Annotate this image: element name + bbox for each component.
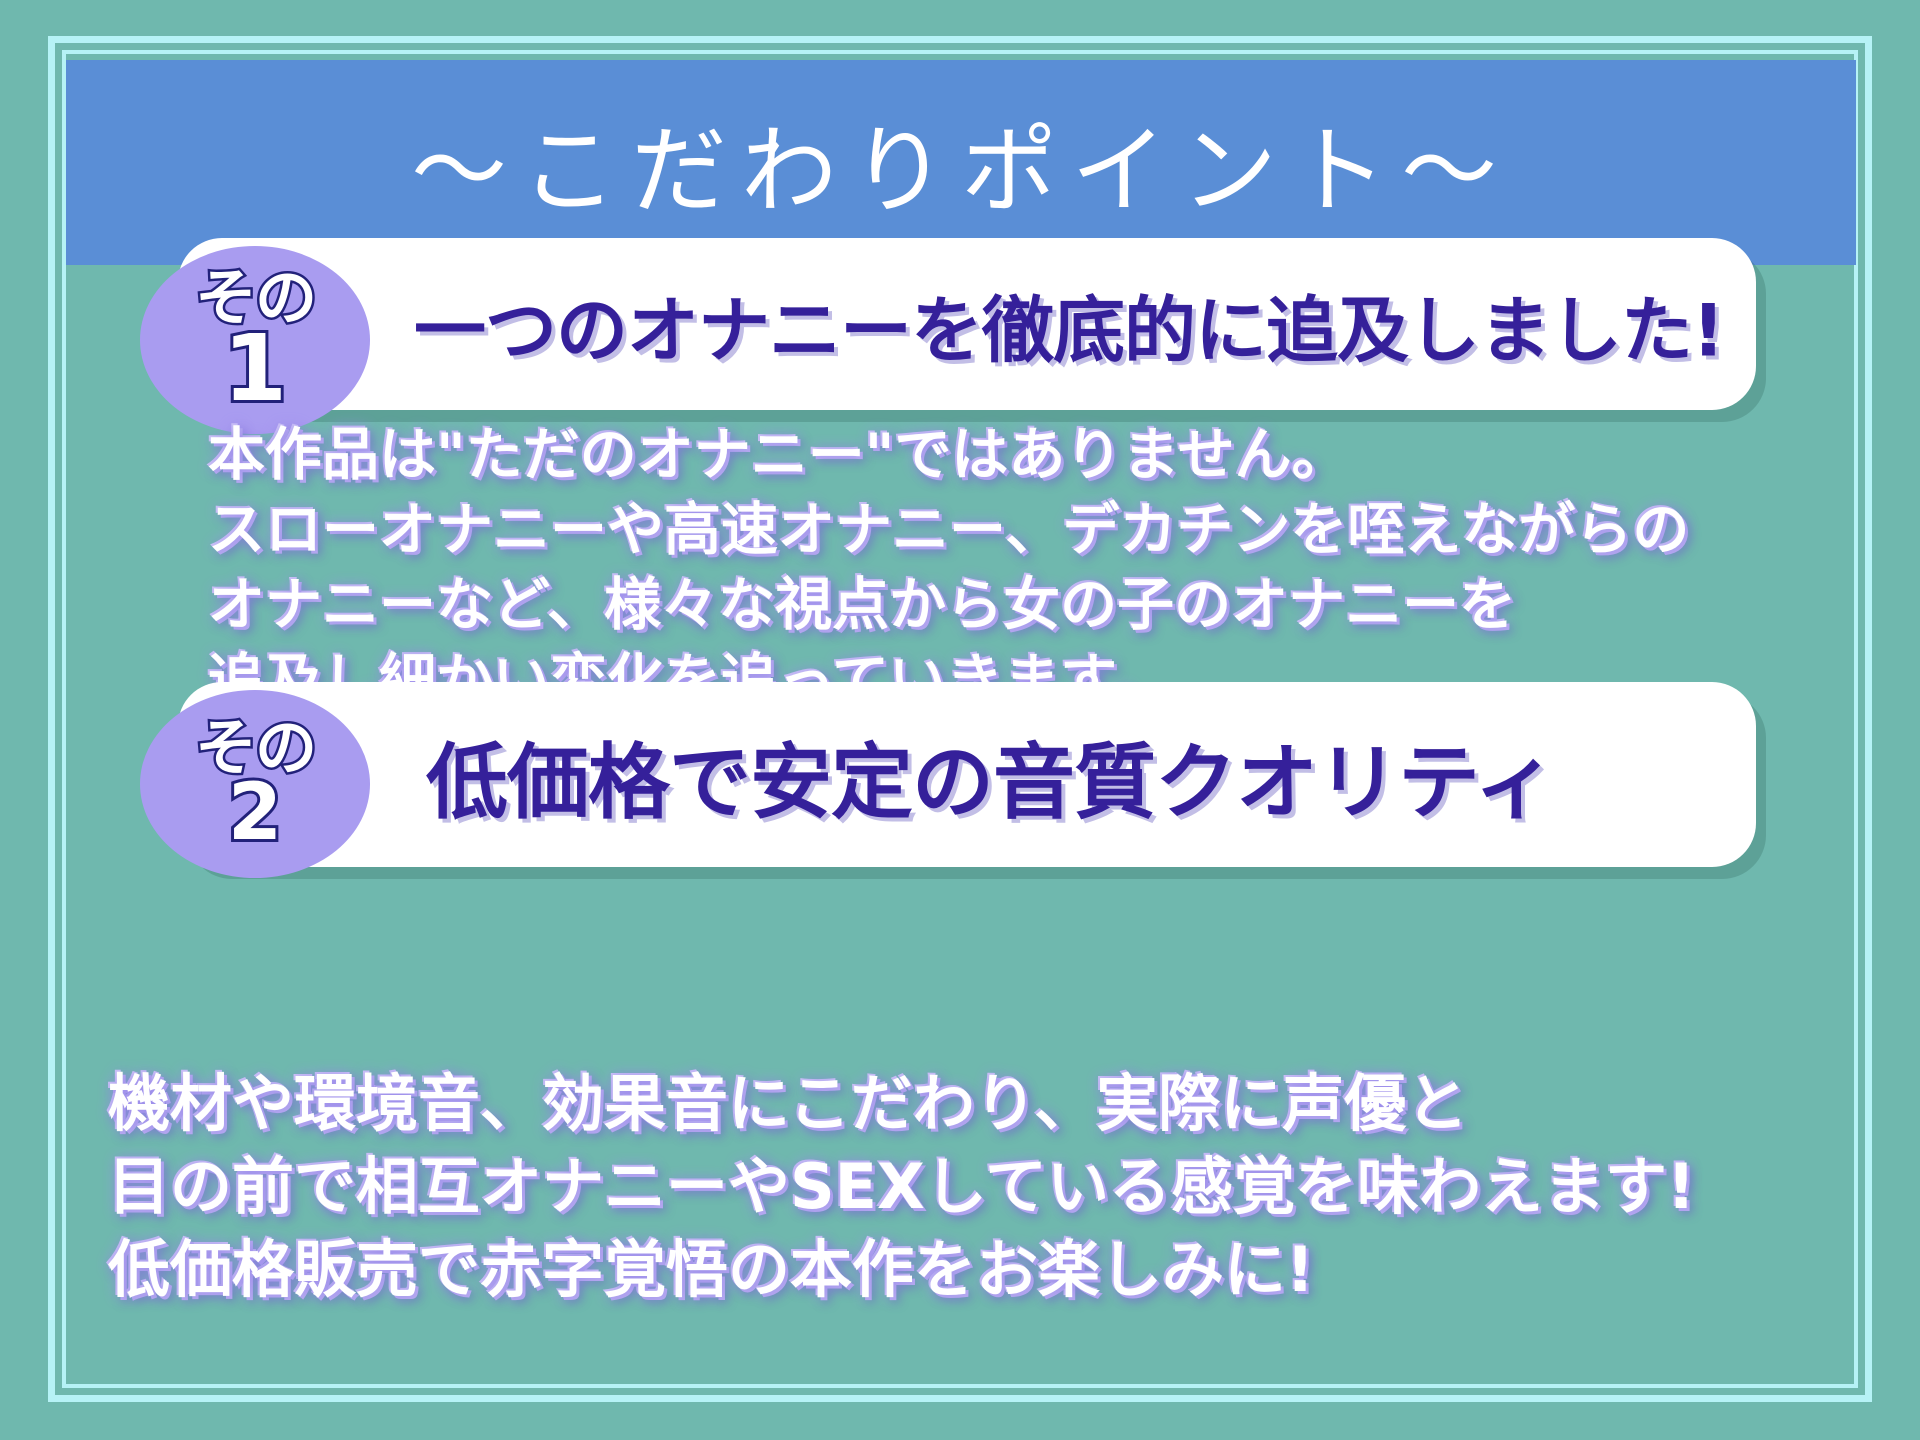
point-1-body: 本作品は"ただのオナニー"ではありません。 スローオナニーや高速オナニー、デカチ… [208, 418, 1689, 719]
body-line: 低価格販売で赤字覚悟の本作をお楽しみに! [108, 1228, 1695, 1311]
point-card-2: 低価格で安定の音質クオリティ [178, 682, 1756, 867]
body-line: 機材や環境音、効果音にこだわり、実際に声優と [108, 1062, 1695, 1145]
point-2-heading: 低価格で安定の音質クオリティ [426, 715, 1555, 834]
page-title: ～こだわりポイント～ [411, 93, 1511, 232]
point-2-body: 機材や環境音、効果音にこだわり、実際に声優と 目の前で相互オナニーやSEXしてい… [108, 1062, 1695, 1311]
point-1-heading: 一つのオナニーを徹底的に追及しました! [414, 272, 1724, 377]
body-line: 目の前で相互オナニーやSEXしている感覚を味わえます! [108, 1145, 1695, 1228]
point-1-badge-number: 1 [223, 328, 287, 411]
body-line: オナニーなど、様々な視点から女の子のオナニーを [208, 568, 1689, 643]
title-banner: ～こだわりポイント～ [66, 60, 1856, 265]
promo-slide: ～こだわりポイント～ 一つのオナニーを徹底的に追及しました! その 1 本作品は… [0, 0, 1920, 1440]
point-card-1: 一つのオナニーを徹底的に追及しました! [178, 238, 1756, 410]
point-1-badge: その 1 [140, 246, 370, 434]
point-2-badge-number: 2 [228, 778, 282, 848]
point-2-badge: その 2 [140, 690, 370, 878]
body-line: 本作品は"ただのオナニー"ではありません。 [208, 418, 1689, 493]
body-line: スローオナニーや高速オナニー、デカチンを咥えながらの [208, 493, 1689, 568]
